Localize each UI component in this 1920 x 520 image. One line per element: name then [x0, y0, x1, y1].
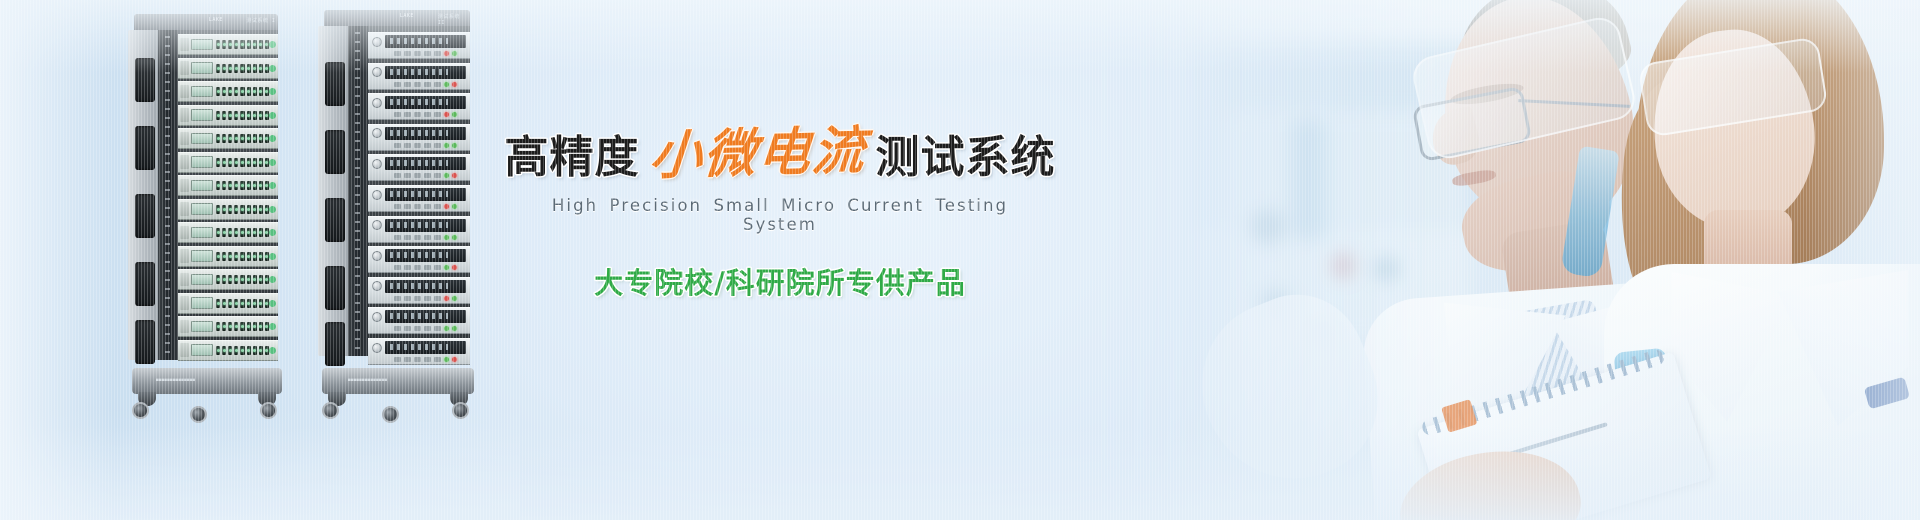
subtitle-english: High Precision Small Micro Current Testi… — [520, 196, 1040, 234]
page-title: 高精度 小微电流 测试系统 — [520, 128, 1040, 180]
channel-port — [216, 346, 220, 355]
unit-display — [191, 62, 213, 74]
status-led — [452, 82, 457, 87]
rack-instrument-unit — [368, 277, 470, 304]
rack-instrument-unit — [178, 316, 278, 337]
rack-instrument-unit — [368, 307, 470, 334]
channel-port — [234, 205, 238, 214]
channel-port — [228, 111, 232, 120]
unit-button — [424, 51, 431, 56]
channel-port — [253, 40, 257, 49]
channel-port — [265, 134, 269, 143]
channel-port — [247, 181, 251, 190]
rack-ear — [180, 249, 189, 263]
channel-port — [234, 64, 238, 73]
unit-button — [404, 82, 411, 87]
status-led — [452, 235, 457, 240]
channel-port — [228, 181, 232, 190]
channel-port — [222, 40, 226, 49]
channel-port — [228, 299, 232, 308]
status-led — [269, 88, 276, 95]
unit-button — [424, 173, 431, 178]
channel-port — [216, 275, 220, 284]
rack-model-label: 测试系统 II — [438, 13, 470, 26]
status-led — [452, 204, 457, 209]
status-led — [452, 265, 457, 270]
unit-display — [385, 249, 466, 262]
channel-port-row — [216, 275, 269, 284]
channel-port-row — [216, 87, 269, 96]
rack-caster-wheel — [452, 402, 469, 419]
channel-port — [240, 40, 244, 49]
unit-button — [414, 265, 421, 270]
rack-caster-wheel — [382, 406, 399, 423]
unit-front-panel — [372, 249, 466, 262]
status-led — [444, 82, 449, 87]
unit-front-panel — [372, 157, 466, 170]
channel-port — [234, 252, 238, 261]
status-led — [452, 173, 457, 178]
channel-port — [234, 299, 238, 308]
channel-port — [222, 322, 226, 331]
power-knob-icon — [372, 251, 382, 261]
unit-button — [414, 326, 421, 331]
channel-port — [216, 228, 220, 237]
rack-brand-label: LAKE — [400, 13, 414, 19]
rack-ear — [180, 343, 189, 357]
channel-port — [253, 111, 257, 120]
rack-instrument-unit — [368, 32, 470, 59]
unit-display — [385, 127, 466, 140]
channel-port-row — [216, 322, 269, 331]
unit-button — [404, 173, 411, 178]
unit-button — [434, 296, 441, 301]
channel-port — [259, 275, 263, 284]
rack-caster-wheel — [260, 402, 277, 419]
power-knob-icon — [372, 98, 382, 108]
unit-button — [404, 204, 411, 209]
channel-port — [216, 299, 220, 308]
channel-port — [216, 158, 220, 167]
channel-port — [222, 181, 226, 190]
channel-port — [247, 275, 251, 284]
unit-display — [191, 250, 213, 262]
status-led — [444, 51, 449, 56]
channel-port — [265, 275, 269, 284]
unit-front-panel — [372, 280, 466, 293]
channel-port — [265, 252, 269, 261]
rack-instrument-unit — [368, 185, 470, 212]
unit-button — [414, 296, 421, 301]
status-led — [452, 143, 457, 148]
unit-button — [424, 143, 431, 148]
rack-ear — [180, 179, 189, 193]
channel-port — [228, 346, 232, 355]
rack-base-plate: ■■■■■■■■■■■■■■ — [322, 368, 474, 394]
channel-port — [259, 205, 263, 214]
channel-port — [253, 275, 257, 284]
title-part-2-highlight: 小微电流 — [643, 125, 872, 183]
unit-button-row — [372, 204, 466, 209]
rack-model-label: 测试系统 I — [246, 17, 275, 24]
power-knob-icon — [372, 190, 382, 200]
unit-button — [404, 143, 411, 148]
status-led — [269, 300, 276, 307]
channel-port — [247, 322, 251, 331]
channel-port-row — [216, 134, 269, 143]
channel-port — [216, 40, 220, 49]
channel-port — [234, 111, 238, 120]
unit-button — [434, 204, 441, 209]
unit-button — [404, 326, 411, 331]
status-led — [444, 143, 449, 148]
channel-port — [253, 87, 257, 96]
rack-mount-rail — [348, 26, 368, 356]
unit-display — [191, 109, 213, 121]
channel-port — [240, 252, 244, 261]
banner-copy-block: 高精度 小微电流 测试系统 High Precision Small Micro… — [520, 128, 1040, 302]
channel-port — [259, 64, 263, 73]
power-knob-icon — [372, 220, 382, 230]
status-led — [452, 51, 457, 56]
unit-button — [424, 296, 431, 301]
unit-button — [434, 82, 441, 87]
channel-port — [222, 228, 226, 237]
channel-port — [259, 158, 263, 167]
channel-port — [247, 87, 251, 96]
channel-port-row — [216, 299, 269, 308]
tagline-chinese: 大专院校/科研院所专供产品 — [520, 260, 1040, 302]
unit-button — [414, 204, 421, 209]
channel-port — [240, 64, 244, 73]
unit-button — [434, 143, 441, 148]
unit-button-row — [372, 112, 466, 117]
channel-port — [228, 158, 232, 167]
unit-display — [191, 297, 213, 309]
unit-display — [191, 203, 213, 215]
channel-port-row — [216, 346, 269, 355]
rack-caster-wheel — [132, 402, 149, 419]
status-led — [269, 229, 276, 236]
channel-port — [265, 228, 269, 237]
channel-port — [228, 252, 232, 261]
unit-button — [424, 112, 431, 117]
unit-display — [191, 180, 213, 192]
product-equipment-racks: LAKE 测试系统 I ■■■■■■■■■■■■■■ — [0, 0, 520, 520]
unit-button — [414, 173, 421, 178]
channel-port — [240, 275, 244, 284]
channel-port — [222, 87, 226, 96]
channel-port-row — [216, 111, 269, 120]
rack-instrument-unit — [178, 152, 278, 173]
title-part-3: 测试系统 — [876, 136, 1056, 180]
channel-port — [247, 346, 251, 355]
unit-button-row — [372, 265, 466, 270]
channel-port — [253, 205, 257, 214]
channel-port — [216, 322, 220, 331]
channel-port — [253, 228, 257, 237]
power-knob-icon — [372, 67, 382, 77]
channel-port — [259, 111, 263, 120]
unit-button — [404, 235, 411, 240]
channel-port — [222, 346, 226, 355]
title-part-1: 高精度 — [505, 136, 640, 180]
laboratory-researchers-photo — [1100, 0, 1920, 520]
unit-display — [385, 157, 466, 170]
status-led — [269, 347, 276, 354]
channel-port — [247, 158, 251, 167]
unit-button — [414, 143, 421, 148]
channel-port — [228, 205, 232, 214]
unit-button — [394, 143, 401, 148]
unit-button — [434, 173, 441, 178]
unit-button — [404, 296, 411, 301]
rack-instrument-unit — [368, 246, 470, 273]
power-knob-icon — [372, 159, 382, 169]
unit-display — [191, 86, 213, 98]
channel-port — [253, 322, 257, 331]
channel-port — [234, 275, 238, 284]
unit-button — [424, 235, 431, 240]
rack-instrument-unit — [368, 93, 470, 120]
product-banner: LAKE 测试系统 I ■■■■■■■■■■■■■■ — [0, 0, 1920, 520]
rack-ear — [180, 132, 189, 146]
rack-base-text: ■■■■■■■■■■■■■■ — [348, 377, 387, 382]
channel-port — [259, 181, 263, 190]
status-led — [444, 326, 449, 331]
channel-port — [234, 40, 238, 49]
unit-button — [394, 265, 401, 270]
status-led — [269, 206, 276, 213]
channel-port — [216, 205, 220, 214]
channel-port — [228, 40, 232, 49]
channel-port — [222, 158, 226, 167]
channel-port — [253, 64, 257, 73]
unit-display — [385, 310, 466, 323]
channel-port — [259, 346, 263, 355]
channel-port — [216, 64, 220, 73]
channel-port — [253, 299, 257, 308]
power-knob-icon — [372, 37, 382, 47]
unit-display — [191, 133, 213, 145]
unit-button — [434, 235, 441, 240]
channel-port — [265, 111, 269, 120]
unit-button — [424, 326, 431, 331]
channel-port — [222, 299, 226, 308]
unit-button-row — [372, 357, 466, 362]
channel-port-row — [216, 181, 269, 190]
rack-instrument-unit — [368, 154, 470, 181]
unit-button — [424, 204, 431, 209]
channel-port — [259, 40, 263, 49]
unit-button — [394, 326, 401, 331]
rack-caster-wheel — [190, 406, 207, 423]
status-led — [444, 173, 449, 178]
rack-instrument-unit — [178, 246, 278, 267]
status-led — [269, 135, 276, 142]
unit-front-panel — [372, 35, 466, 48]
power-knob-icon — [372, 128, 382, 138]
status-led — [452, 296, 457, 301]
channel-port — [234, 346, 238, 355]
channel-port — [240, 228, 244, 237]
rack-instrument-unit — [368, 124, 470, 151]
unit-front-panel — [372, 127, 466, 140]
channel-port — [240, 87, 244, 96]
channel-port — [240, 346, 244, 355]
unit-button-row — [372, 51, 466, 56]
channel-port — [265, 64, 269, 73]
channel-port-row — [216, 205, 269, 214]
rack-ear — [180, 61, 189, 75]
channel-port — [216, 111, 220, 120]
rack-instrument-unit — [178, 34, 278, 55]
unit-button — [414, 51, 421, 56]
rack-instrument-unit — [178, 58, 278, 79]
channel-port — [240, 134, 244, 143]
unit-button — [424, 82, 431, 87]
channel-port — [247, 205, 251, 214]
status-led — [269, 41, 276, 48]
unit-front-panel — [372, 310, 466, 323]
unit-front-panel — [372, 219, 466, 232]
unit-button — [414, 82, 421, 87]
rack-ear — [180, 296, 189, 310]
unit-front-panel — [372, 66, 466, 79]
status-led — [269, 323, 276, 330]
status-led — [444, 357, 449, 362]
unit-button — [434, 357, 441, 362]
unit-display — [385, 35, 466, 48]
unit-button — [394, 173, 401, 178]
channel-port — [259, 228, 263, 237]
unit-display — [385, 188, 466, 201]
channel-port-row — [216, 228, 269, 237]
channel-port — [240, 299, 244, 308]
power-knob-icon — [372, 343, 382, 353]
channel-port — [240, 111, 244, 120]
channel-port — [247, 228, 251, 237]
channel-port — [265, 181, 269, 190]
unit-button — [404, 112, 411, 117]
unit-button — [434, 265, 441, 270]
channel-port — [240, 322, 244, 331]
rack-instrument-unit — [178, 199, 278, 220]
channel-port — [234, 228, 238, 237]
channel-port — [253, 181, 257, 190]
channel-port — [228, 64, 232, 73]
unit-button — [394, 296, 401, 301]
rack-ear — [180, 226, 189, 240]
rack-ear — [180, 320, 189, 334]
unit-display — [385, 280, 466, 293]
unit-display — [191, 321, 213, 333]
unit-button — [414, 235, 421, 240]
channel-port — [247, 299, 251, 308]
rack-instrument-unit — [178, 175, 278, 196]
unit-button — [434, 51, 441, 56]
rack-instrument-units: LAKE 测试系统 II ■■■■■■■■■■■■■■ — [318, 26, 470, 421]
rack-brand-label: LAKE — [209, 17, 223, 23]
channel-port — [222, 205, 226, 214]
channel-port — [247, 252, 251, 261]
channel-port — [234, 134, 238, 143]
channel-port — [247, 111, 251, 120]
rack-instrument-unit — [178, 293, 278, 314]
status-led — [452, 112, 457, 117]
unit-button-row — [372, 235, 466, 240]
rack-instrument-unit — [368, 338, 470, 365]
channel-port — [228, 322, 232, 331]
status-led — [452, 357, 457, 362]
unit-front-panel — [372, 341, 466, 354]
channel-port — [234, 158, 238, 167]
rack-ear — [180, 273, 189, 287]
channel-port — [240, 205, 244, 214]
rack-side-frame — [128, 30, 162, 360]
unit-display — [191, 39, 213, 51]
unit-display — [385, 341, 466, 354]
channel-port — [265, 40, 269, 49]
channel-port — [247, 64, 251, 73]
rack-ear — [180, 155, 189, 169]
rack-instrument-unit — [178, 105, 278, 126]
channel-port-row — [216, 252, 269, 261]
channel-port — [222, 111, 226, 120]
channel-port — [265, 205, 269, 214]
status-led — [269, 253, 276, 260]
status-led — [269, 276, 276, 283]
unit-button — [424, 265, 431, 270]
channel-port — [216, 134, 220, 143]
channel-port — [228, 87, 232, 96]
channel-port — [240, 158, 244, 167]
unit-button — [414, 112, 421, 117]
unit-button-row — [372, 82, 466, 87]
channel-port — [228, 134, 232, 143]
channel-port — [253, 346, 257, 355]
channel-port-row — [216, 64, 269, 73]
rack-instrument-unit — [368, 216, 470, 243]
channel-port — [234, 87, 238, 96]
status-led — [269, 182, 276, 189]
unit-button — [414, 357, 421, 362]
unit-button-row — [372, 326, 466, 331]
power-knob-icon — [372, 312, 382, 322]
channel-port — [234, 322, 238, 331]
rack-ear — [180, 202, 189, 216]
unit-button — [394, 112, 401, 117]
rack-side-frame — [318, 26, 352, 356]
rack-base-plate: ■■■■■■■■■■■■■■ — [132, 368, 282, 394]
channel-port — [253, 252, 257, 261]
channel-port — [228, 228, 232, 237]
channel-port — [216, 87, 220, 96]
rack-ear — [180, 38, 189, 52]
channel-port — [259, 322, 263, 331]
channel-port — [222, 252, 226, 261]
unit-button — [404, 357, 411, 362]
power-knob-icon — [372, 281, 382, 291]
unit-button-row — [372, 173, 466, 178]
unit-button — [404, 265, 411, 270]
unit-button-row — [372, 143, 466, 148]
rack-instrument-unit — [178, 81, 278, 102]
rack-instrument-unit — [178, 269, 278, 290]
status-led — [269, 159, 276, 166]
status-led — [444, 235, 449, 240]
unit-button — [394, 357, 401, 362]
